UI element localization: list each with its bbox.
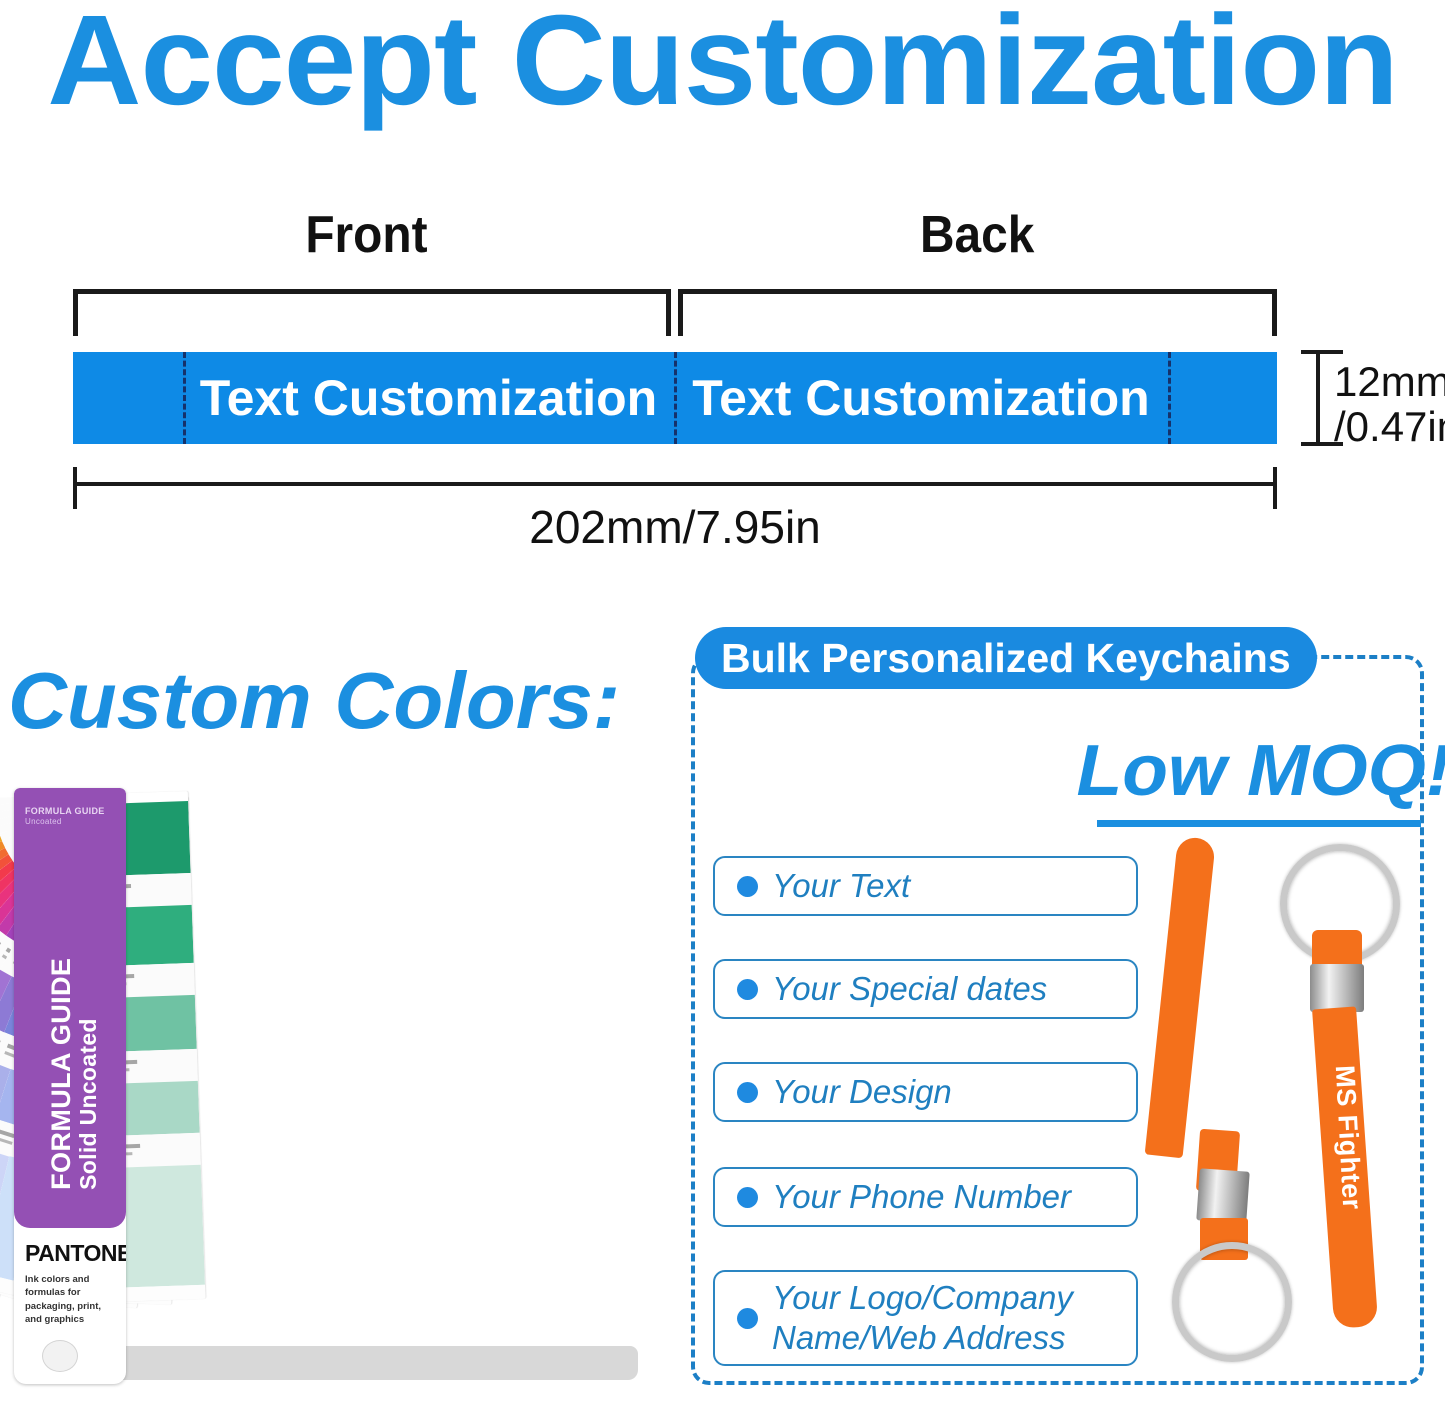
pantone-pivot-hole xyxy=(42,1340,78,1372)
length-dimension-line xyxy=(73,482,1277,486)
list-item-label: Your Phone Number xyxy=(772,1177,1071,1217)
height-dimension-in: /0.47in xyxy=(1334,405,1445,450)
custom-colors-heading: Custom Colors: xyxy=(8,655,620,747)
pantone-spine-line1: FORMULA GUIDE xyxy=(48,844,76,1190)
front-section-bracket xyxy=(73,289,671,336)
band-divider-right xyxy=(1168,352,1171,444)
length-dimension-label: 202mm/7.95in xyxy=(73,500,1277,554)
pantone-cover-spine-text: FORMULA GUIDE Solid Uncoated xyxy=(48,844,100,1204)
keychain-panel-title: Bulk Personalized Keychains xyxy=(695,627,1317,689)
pantone-cover-top-text: FORMULA GUIDE Uncoated xyxy=(25,805,121,828)
keychain-product-photo: Never Give Up MS Fighter xyxy=(1160,830,1445,1390)
list-item-label: Your Special dates xyxy=(772,969,1047,1009)
list-item-label: Your Text xyxy=(772,866,910,906)
list-item[interactable]: Your Special dates xyxy=(713,959,1138,1019)
keychain-left-crimp xyxy=(1196,1168,1250,1223)
keychain-left-text: Never Give Up xyxy=(1201,878,1254,1130)
back-label: Back xyxy=(920,205,1034,265)
keychain-right-crimp xyxy=(1310,964,1364,1012)
bullet-icon xyxy=(737,1187,758,1208)
band-text-front: Text Customization xyxy=(183,352,674,444)
list-item[interactable]: Your Logo/Company Name/Web Address xyxy=(713,1270,1138,1366)
list-item[interactable]: Your Phone Number xyxy=(713,1167,1138,1227)
pantone-spine-line2: Solid Uncoated xyxy=(76,844,100,1190)
bullet-icon xyxy=(737,1082,758,1103)
back-section-bracket xyxy=(678,289,1277,336)
bullet-icon xyxy=(737,1308,758,1329)
pantone-top-line2: Uncoated xyxy=(25,817,121,828)
page-title: Accept Customization xyxy=(0,0,1445,128)
keychain-right-strap-top xyxy=(1312,930,1362,968)
keychain-left-split-ring xyxy=(1172,1242,1292,1362)
list-item[interactable]: Your Text xyxy=(713,856,1138,916)
low-moq-underline xyxy=(1097,820,1421,827)
bullet-icon xyxy=(737,876,758,897)
low-moq-badge: Low MOQ! xyxy=(1076,730,1428,812)
list-item-label: Your Logo/Company Name/Web Address xyxy=(772,1278,1136,1357)
front-label: Front xyxy=(305,205,427,265)
pantone-fan-deck-image: FORMULA GUIDE Uncoated FORMULA GUIDE Sol… xyxy=(0,780,680,1400)
bullet-icon xyxy=(737,979,758,1000)
height-dimension-line xyxy=(1316,352,1320,444)
band-text-back: Text Customization xyxy=(674,352,1168,444)
list-item[interactable]: Your Design xyxy=(713,1062,1138,1122)
height-dimension-label: 12mm /0.47in xyxy=(1334,360,1445,449)
list-item-label: Your Design xyxy=(772,1072,952,1112)
height-dimension-mm: 12mm xyxy=(1334,360,1445,405)
pantone-brand: PANTONE xyxy=(25,1240,126,1266)
pantone-top-line1: FORMULA GUIDE xyxy=(25,805,121,817)
pantone-guide-cover: FORMULA GUIDE Uncoated FORMULA GUIDE Sol… xyxy=(14,788,126,1384)
pantone-logo: PANTONE® xyxy=(25,1240,126,1267)
pantone-description: Ink colors and formulas for packaging, p… xyxy=(25,1273,117,1326)
wristband-graphic: Text Customization Text Customization xyxy=(73,352,1277,444)
